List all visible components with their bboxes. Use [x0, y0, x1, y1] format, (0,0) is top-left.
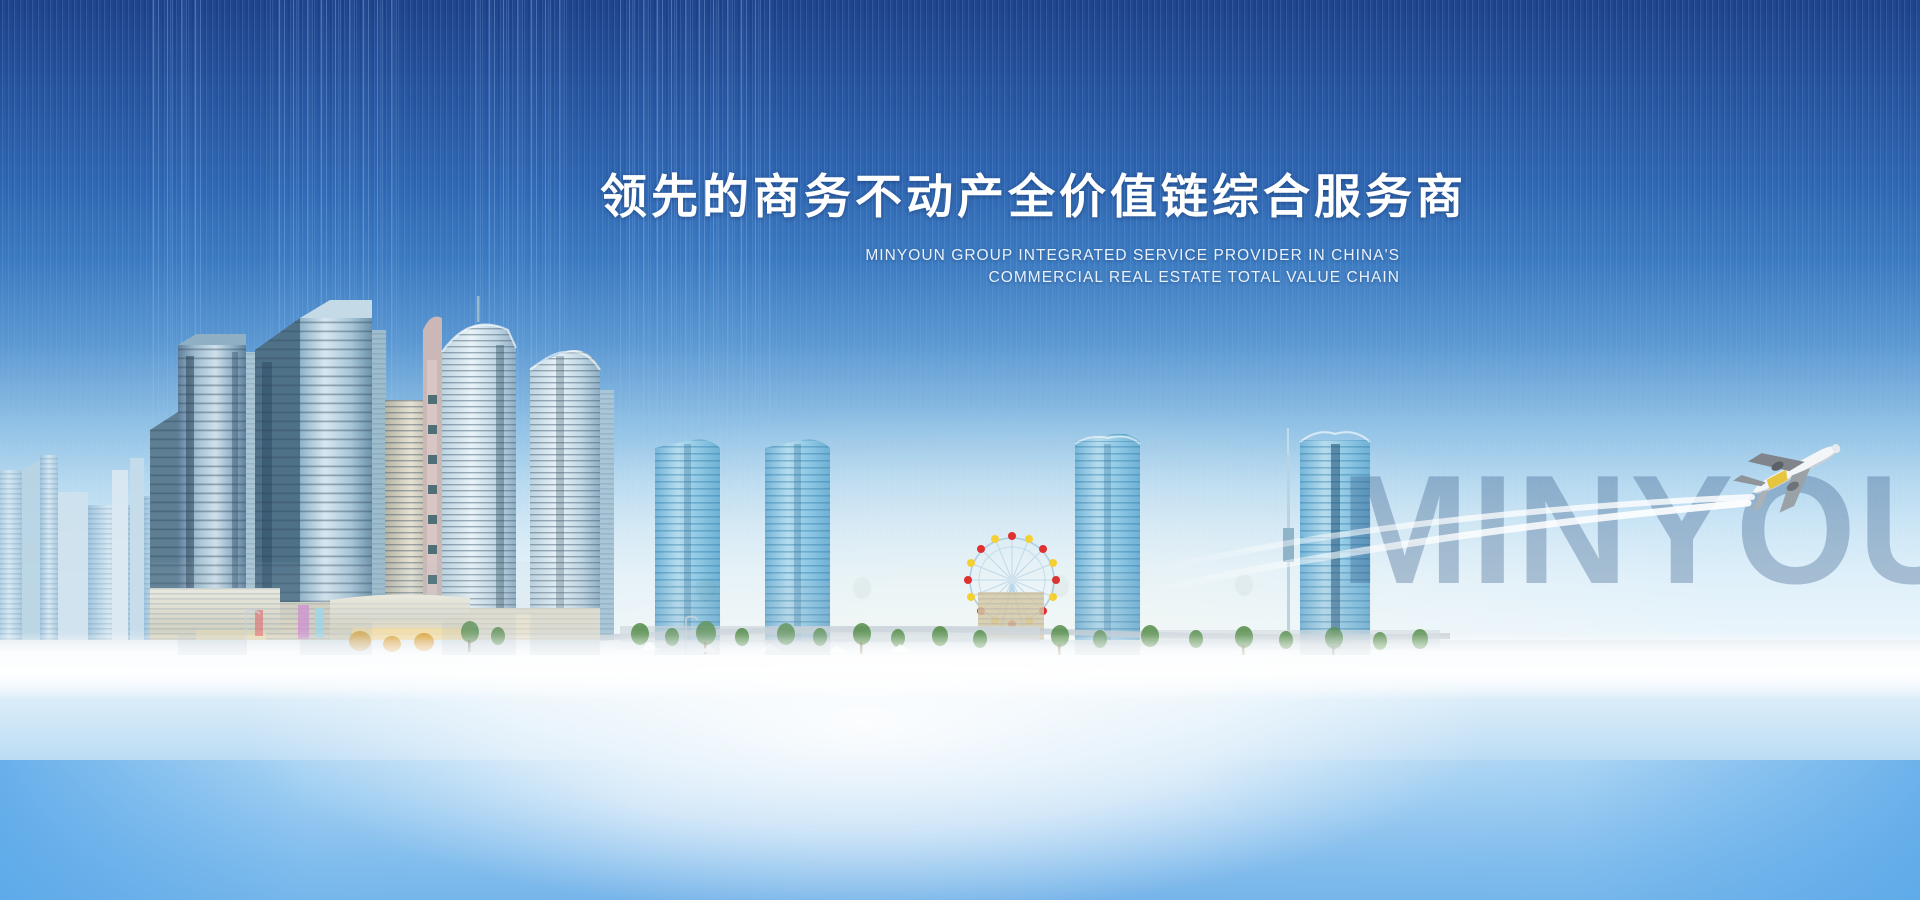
water-edge-tint: [0, 760, 1920, 900]
page-title: 领先的商务不动产全价值链综合服务商: [600, 172, 1400, 225]
subtitle-line-2: COMMERCIAL REAL ESTATE TOTAL VALUE CHAIN: [600, 267, 1400, 289]
minyoun-watermark: MINYOUN: [1340, 452, 1920, 607]
subtitle-block: MINYOUN GROUP INTEGRATED SERVICE PROVIDE…: [600, 245, 1400, 290]
hero-banner: MINYOUN: [0, 0, 1920, 900]
subtitle-line-1: MINYOUN GROUP INTEGRATED SERVICE PROVIDE…: [600, 245, 1400, 267]
headline-block: 领先的商务不动产全价值链综合服务商 MINYOUN GROUP INTEGRAT…: [600, 172, 1400, 290]
horizon-mist: [0, 630, 1920, 700]
